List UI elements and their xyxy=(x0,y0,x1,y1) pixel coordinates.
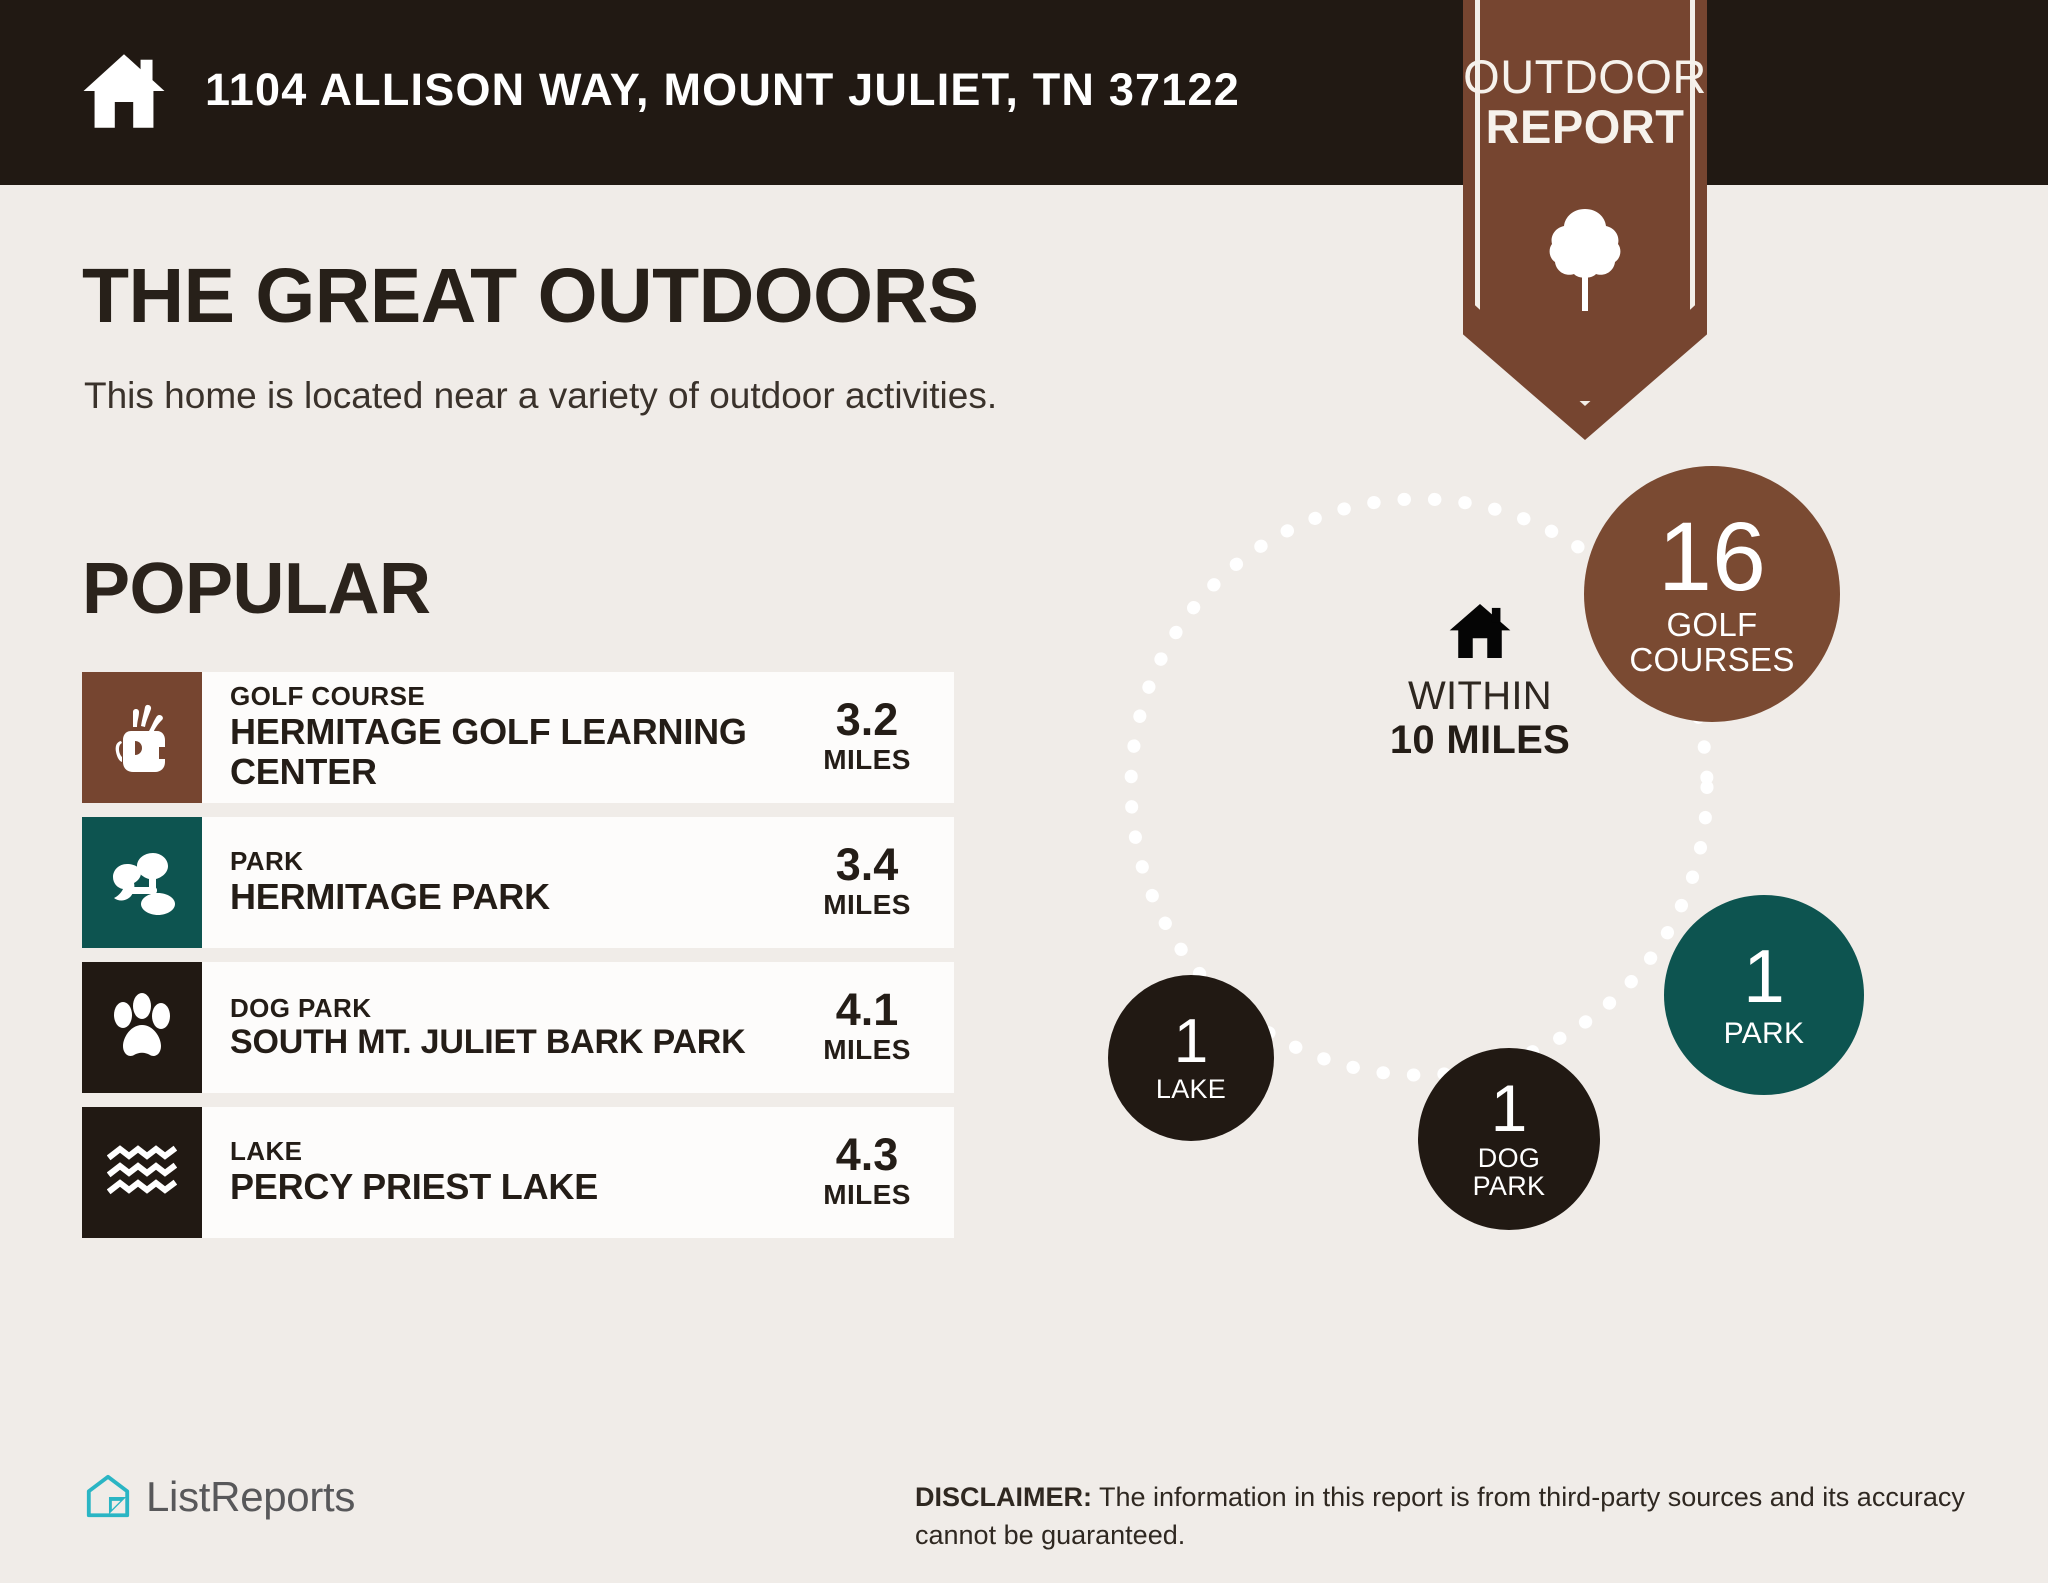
listreports-logo[interactable]: ListReports xyxy=(84,1473,355,1521)
property-address: 1104 ALLISON WAY, MOUNT JULIET, TN 37122 xyxy=(205,64,1240,116)
row-category: GOLF COURSE xyxy=(230,682,808,712)
golf-bag-icon xyxy=(111,701,173,775)
row-distance: 3.2 MILES xyxy=(808,697,940,778)
badge-title-line2: REPORT xyxy=(1463,102,1707,152)
bubble-dog-park[interactable]: 1 DOG PARK xyxy=(1418,1048,1600,1230)
badge-title: OUTDOOR REPORT xyxy=(1463,52,1707,152)
row-distance-value: 3.2 xyxy=(808,697,926,742)
row-icon-tile xyxy=(82,1107,202,1238)
row-distance: 4.1 MILES xyxy=(808,987,940,1068)
row-icon-tile xyxy=(82,817,202,948)
listreports-house-icon xyxy=(84,1473,132,1521)
row-text: GOLF COURSE HERMITAGE GOLF LEARNING CENT… xyxy=(230,682,808,793)
tree-icon xyxy=(1547,205,1623,315)
row-body: PARK HERMITAGE PARK 3.4 MILES xyxy=(202,817,954,948)
list-item[interactable]: DOG PARK SOUTH MT. JULIET BARK PARK 4.1 … xyxy=(82,962,954,1093)
popular-list: GOLF COURSE HERMITAGE GOLF LEARNING CENT… xyxy=(82,672,954,1252)
row-category: DOG PARK xyxy=(230,994,808,1024)
row-distance-unit: MILES xyxy=(808,1032,926,1068)
row-category: LAKE xyxy=(230,1137,808,1167)
row-body: DOG PARK SOUTH MT. JULIET BARK PARK 4.1 … xyxy=(202,962,954,1093)
row-distance-unit: MILES xyxy=(808,1177,926,1213)
disclaimer: DISCLAIMER: The information in this repo… xyxy=(915,1478,1985,1555)
row-icon-tile xyxy=(82,962,202,1093)
row-name: SOUTH MT. JULIET BARK PARK xyxy=(230,1023,808,1061)
bubble-golf-courses[interactable]: 16 GOLF COURSES xyxy=(1584,466,1840,722)
page-subtitle: This home is located near a variety of o… xyxy=(84,375,997,417)
waves-icon xyxy=(107,1144,177,1202)
row-name: PERCY PRIEST LAKE xyxy=(230,1167,808,1207)
row-category: PARK xyxy=(230,847,808,877)
bubble-count: 1 xyxy=(1491,1077,1528,1140)
page-title: THE GREAT OUTDOORS xyxy=(82,252,978,341)
row-body: LAKE PERCY PRIEST LAKE 4.3 MILES xyxy=(202,1107,954,1238)
trees-icon xyxy=(106,849,178,917)
row-text: DOG PARK SOUTH MT. JULIET BARK PARK xyxy=(230,994,808,1062)
bubble-label: GOLF COURSES xyxy=(1629,608,1794,678)
diagram-center-line1: WITHIN xyxy=(1350,674,1610,718)
row-name: HERMITAGE PARK xyxy=(230,877,808,917)
bubble-label: LAKE xyxy=(1156,1075,1226,1104)
bubble-label-line2: COURSES xyxy=(1629,641,1794,678)
listreports-logo-text: ListReports xyxy=(146,1473,355,1521)
list-item[interactable]: GOLF COURSE HERMITAGE GOLF LEARNING CENT… xyxy=(82,672,954,803)
badge-title-line1: OUTDOOR xyxy=(1463,50,1707,103)
row-text: LAKE PERCY PRIEST LAKE xyxy=(230,1137,808,1207)
row-text: PARK HERMITAGE PARK xyxy=(230,847,808,917)
bubble-label-line2: PARK xyxy=(1473,1171,1546,1201)
bubble-label: DOG PARK xyxy=(1473,1144,1546,1201)
row-distance: 3.4 MILES xyxy=(808,842,940,923)
bubble-label-line1: GOLF xyxy=(1666,606,1757,643)
row-distance-value: 3.4 xyxy=(808,842,926,887)
diagram-center: WITHIN 10 MILES xyxy=(1350,600,1610,762)
row-distance-unit: MILES xyxy=(808,887,926,923)
proximity-diagram: 16 GOLF COURSES 1 PARK 1 LAKE 1 DOG PARK… xyxy=(1100,470,1980,1090)
bubble-count: 16 xyxy=(1658,510,1766,603)
house-icon xyxy=(78,45,170,137)
bubble-count: 1 xyxy=(1174,1012,1208,1072)
disclaimer-label: DISCLAIMER: xyxy=(915,1482,1092,1512)
row-distance-value: 4.3 xyxy=(808,1132,926,1177)
row-name: HERMITAGE GOLF LEARNING CENTER xyxy=(230,712,808,793)
bubble-park[interactable]: 1 PARK xyxy=(1664,895,1864,1095)
row-distance: 4.3 MILES xyxy=(808,1132,940,1213)
header-bar: 1104 ALLISON WAY, MOUNT JULIET, TN 37122 xyxy=(0,0,2048,185)
row-body: GOLF COURSE HERMITAGE GOLF LEARNING CENT… xyxy=(202,672,954,803)
bubble-label-line1: DOG xyxy=(1478,1143,1540,1173)
row-distance-unit: MILES xyxy=(808,742,926,778)
outdoor-report-badge: OUTDOOR REPORT xyxy=(1463,0,1707,440)
diagram-center-line2: 10 MILES xyxy=(1350,718,1610,762)
row-icon-tile xyxy=(82,672,202,803)
list-item[interactable]: LAKE PERCY PRIEST LAKE 4.3 MILES xyxy=(82,1107,954,1238)
row-distance-value: 4.1 xyxy=(808,987,926,1032)
section-heading-popular: POPULAR xyxy=(82,548,431,630)
paw-print-icon xyxy=(110,993,174,1063)
bubble-lake[interactable]: 1 LAKE xyxy=(1108,975,1274,1141)
bubble-label: PARK xyxy=(1724,1018,1805,1050)
list-item[interactable]: PARK HERMITAGE PARK 3.4 MILES xyxy=(82,817,954,948)
bubble-count: 1 xyxy=(1743,940,1785,1012)
house-icon xyxy=(1447,600,1513,662)
